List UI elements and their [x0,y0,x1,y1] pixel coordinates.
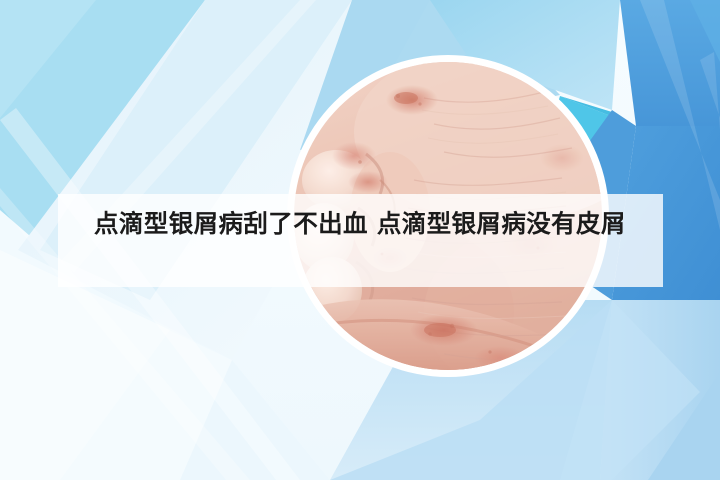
caption-banner: 点滴型银屑病刮了不出血 点滴型银屑病没有皮屑 [58,194,663,287]
thumbnail-card: 点滴型银屑病刮了不出血 点滴型银屑病没有皮屑 [0,0,720,480]
page-title: 点滴型银屑病刮了不出血 点滴型银屑病没有皮屑 [94,207,642,241]
